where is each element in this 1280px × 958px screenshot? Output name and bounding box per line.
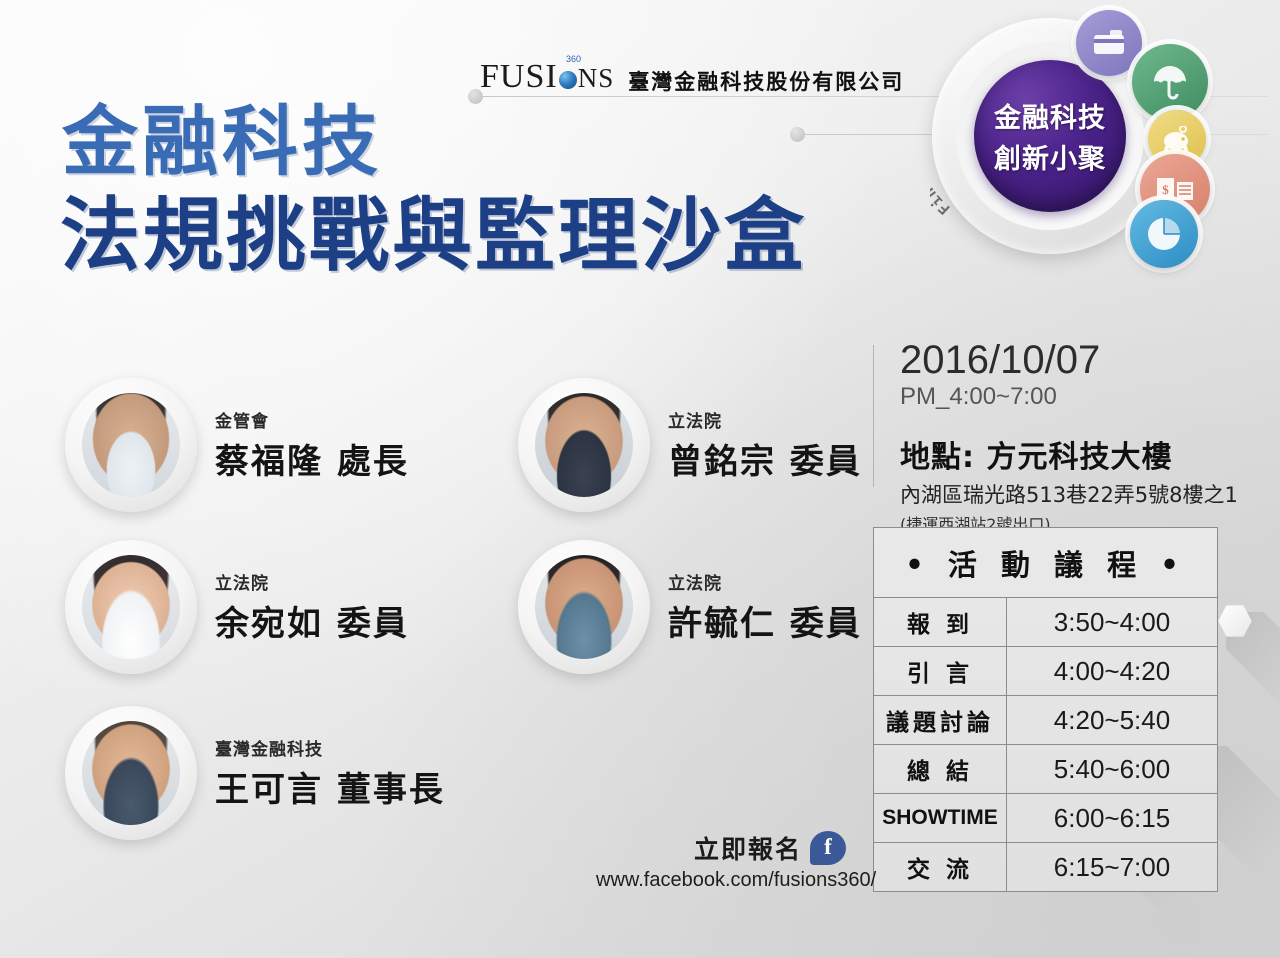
badge-core-line2: 創新小聚 — [994, 137, 1106, 176]
page-title-line2: 法規挑戰與監理沙盒 — [60, 196, 807, 276]
svg-text:Fintechers' Chat: Fintechers' Chat — [930, 55, 954, 218]
facebook-icon[interactable]: f — [810, 831, 846, 865]
facebook-letter: f — [810, 831, 846, 865]
badge-arc-label: Fintechers' Chat — [930, 55, 954, 218]
umbrella-icon — [1132, 44, 1208, 120]
agenda-time: 3:50~4:00 — [1007, 598, 1218, 647]
pie-chart-icon — [1130, 200, 1198, 268]
table-row: 議題討論 4:20~5:40 — [874, 696, 1217, 745]
register-cta-label: 立即報名 — [694, 830, 802, 866]
table-row: 報 到 3:50~4:00 — [874, 598, 1217, 647]
speaker-photo-wang-ko-yen — [65, 706, 197, 840]
speaker-photo-tseng-ming-tsung — [518, 378, 650, 512]
agenda-heading: • 活 動 議 程 • — [874, 528, 1217, 598]
agenda-label: 交 流 — [874, 843, 1007, 892]
logo-word-main: FUSI — [480, 58, 558, 95]
logo-superscript-360: 360 — [566, 54, 581, 64]
speaker-name: 余宛如 委員 — [215, 596, 409, 645]
agenda-label: 議題討論 — [874, 696, 1007, 745]
event-poster: FUSINS 360 臺灣金融科技股份有限公司 金融科技 法規挑戰與監理沙盒 F… — [0, 0, 1280, 958]
speaker-card-2: 立法院 曾銘宗 委員 — [518, 378, 862, 512]
company-name: 臺灣金融科技股份有限公司 — [628, 66, 904, 96]
facebook-url[interactable]: www.facebook.com/fusions360/ — [596, 869, 846, 892]
speaker-name: 王可言 董事長 — [215, 762, 445, 811]
header-connector-dot-2 — [790, 127, 805, 142]
event-date: 2016/10/07 — [900, 340, 1270, 382]
speaker-name: 曾銘宗 委員 — [668, 434, 862, 483]
agenda-table: • 活 動 議 程 • 報 到 3:50~4:00 引 言 4:00~4:20 … — [873, 527, 1218, 892]
agenda-time: 6:00~6:15 — [1007, 794, 1218, 843]
agenda-time: 6:15~7:00 — [1007, 843, 1218, 892]
registration-block[interactable]: 立即報名 f www.facebook.com/fusions360/ — [596, 830, 846, 892]
svg-text:$: $ — [1162, 182, 1169, 197]
table-row: SHOWTIME 6:00~6:15 — [874, 794, 1217, 843]
logo-word-tail: NS — [578, 63, 615, 93]
agenda-label: 報 到 — [874, 598, 1007, 647]
logo-wordmark: FUSINS 360 — [480, 58, 614, 96]
event-address: 內湖區瑞光路513巷22弄5號8樓之1 — [900, 479, 1270, 509]
speaker-name: 許毓仁 委員 — [668, 596, 862, 645]
badge-core-circle: 金融科技 創新小聚 — [974, 60, 1126, 212]
speaker-org: 金管會 — [215, 407, 409, 432]
agenda-label: 總 結 — [874, 745, 1007, 794]
credit-card-icon — [1076, 10, 1142, 76]
agenda-time: 4:20~5:40 — [1007, 696, 1218, 745]
table-row: 總 結 5:40~6:00 — [874, 745, 1217, 794]
speaker-org: 臺灣金融科技 — [215, 735, 445, 760]
event-venue: 地點: 方元科技大樓 — [900, 432, 1270, 476]
table-row: 交 流 6:15~7:00 — [874, 843, 1217, 892]
event-info-panel: 2016/10/07 PM_4:00~7:00 地點: 方元科技大樓 內湖區瑞光… — [900, 340, 1270, 535]
page-title-line1: 金融科技 — [62, 104, 382, 180]
speaker-photo-yu-wan-ju — [65, 540, 197, 674]
speaker-card-1: 金管會 蔡福隆 處長 — [65, 378, 409, 512]
speaker-card-4: 立法院 許毓仁 委員 — [518, 540, 862, 674]
badge-core-line1: 金融科技 — [994, 96, 1106, 135]
speaker-photo-tsai-fu-lung — [65, 378, 197, 512]
event-time: PM_4:00~7:00 — [900, 383, 1270, 411]
event-series-badge: Fintechers' Chat 金融科技 創新小聚 $ — [930, 8, 1190, 270]
speaker-org: 立法院 — [668, 407, 862, 432]
info-panel-divider — [873, 345, 874, 487]
agenda-label: 引 言 — [874, 647, 1007, 696]
speaker-name: 蔡福隆 處長 — [215, 434, 409, 483]
speaker-org: 立法院 — [215, 569, 409, 594]
agenda-label: SHOWTIME — [874, 794, 1007, 843]
speaker-card-5: 臺灣金融科技 王可言 董事長 — [65, 706, 445, 840]
speaker-photo-hsu-yu-jen — [518, 540, 650, 674]
agenda-time: 4:00~4:20 — [1007, 647, 1218, 696]
agenda-time: 5:40~6:00 — [1007, 745, 1218, 794]
table-row: 引 言 4:00~4:20 — [874, 647, 1217, 696]
speaker-org: 立法院 — [668, 569, 862, 594]
company-logo: FUSINS 360 臺灣金融科技股份有限公司 — [480, 58, 904, 96]
globe-icon — [559, 71, 577, 89]
speaker-card-3: 立法院 余宛如 委員 — [65, 540, 409, 674]
